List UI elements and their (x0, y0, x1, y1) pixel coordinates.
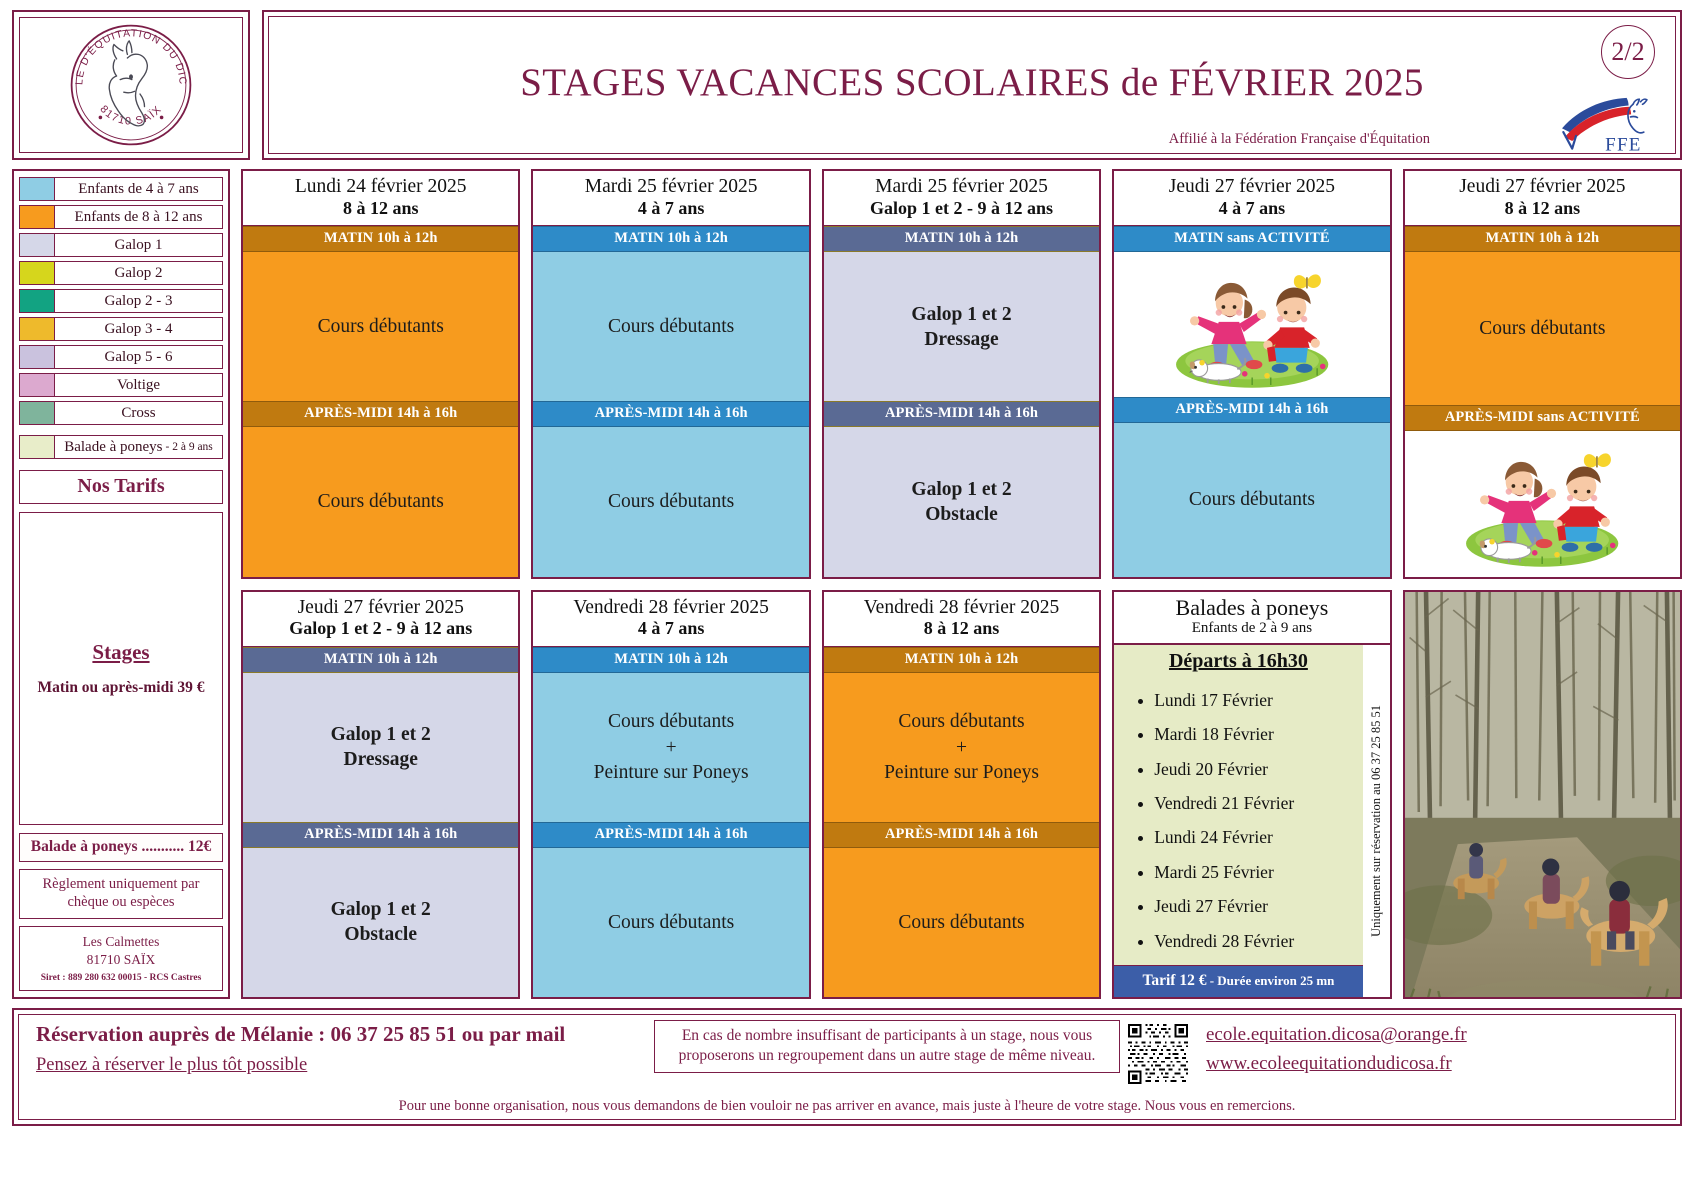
footer-organisation-note: Pour une bonne organisation, nous vous d… (314, 1098, 1380, 1115)
card-age: 4 à 7 ans (1118, 198, 1385, 220)
siret-text: Siret : 889 280 632 00015 - RCS Castres (24, 973, 218, 983)
morning-slot-bar: MATIN 10h à 12h (824, 647, 1099, 673)
balades-tarif-bar: Tarif 12 € - Durée environ 25 mn (1114, 965, 1362, 997)
card-age: Galop 1 et 2 - 9 à 12 ans (247, 618, 514, 640)
card-age: 8 à 12 ans (247, 198, 514, 220)
morning-slot-bar: MATIN sans ACTIVITÉ (1114, 226, 1389, 252)
legend-label: Enfants de 4 à 7 ans (55, 178, 222, 200)
morning-slot-body: Cours débutants (1405, 252, 1680, 405)
legend-label: Balade à poneys - 2 à 9 ans (55, 436, 222, 458)
afternoon-slot-bar: APRÈS-MIDI 14h à 16h (243, 401, 518, 427)
kids-playing-illustration-icon (1114, 252, 1389, 397)
card-date: Mardi 25 février 2025 (537, 176, 804, 198)
legend-label: Galop 3 - 4 (55, 318, 222, 340)
morning-slot-bar: MATIN 10h à 12h (824, 226, 1099, 252)
afternoon-slot-bar: APRÈS-MIDI sans ACTIVITÉ (1405, 405, 1680, 431)
legend-swatch (20, 262, 55, 284)
legend-label-text: Balade à poneys (64, 439, 162, 456)
legend-swatch (20, 234, 55, 256)
email-link[interactable]: ecole.equitation.dicosa@orange.fr (1206, 1024, 1467, 1046)
afternoon-slot-body: Cours débutants (824, 848, 1099, 997)
balades-tarif-amount: Tarif 12 € (1142, 972, 1206, 989)
address-box: Les Calmettes 81710 SAÏX Siret : 889 280… (19, 926, 223, 991)
afternoon-slot-bar: APRÈS-MIDI 14h à 16h (824, 401, 1099, 427)
schedule-row-2: Jeudi 27 février 2025 Galop 1 et 2 - 9 à… (241, 590, 1682, 1000)
schedule-card[interactable]: Vendredi 28 février 2025 8 à 12 ans MATI… (822, 590, 1101, 1000)
legend-label: Galop 2 (55, 262, 222, 284)
balades-poneys-panel[interactable]: Balades à poneys Enfants de 2 à 9 ans Dé… (1112, 590, 1391, 1000)
footer-reservation-line: Réservation auprès de Mélanie : 06 37 25… (36, 1022, 654, 1047)
legend-item-galop-3-4: Galop 3 - 4 (19, 317, 223, 341)
list-item: Lundi 17 Février (1138, 690, 1362, 711)
morning-slot-bar: MATIN 10h à 12h (243, 226, 518, 252)
list-item: Vendredi 28 Février (1138, 931, 1362, 952)
balades-content: Départs à 16h30 Lundi 17 Février Mardi 1… (1114, 645, 1362, 997)
card-age: 8 à 12 ans (1409, 198, 1676, 220)
legend-label-sub: - 2 à 9 ans (166, 441, 213, 453)
legend-label: Enfants de 8 à 12 ans (55, 206, 222, 228)
card-date: Jeudi 27 février 2025 (1118, 176, 1385, 198)
card-header: Mardi 25 février 2025 4 à 7 ans (533, 171, 808, 226)
afternoon-slot-bar: APRÈS-MIDI 14h à 16h (1114, 397, 1389, 423)
legend-item-galop-1: Galop 1 (19, 233, 223, 257)
legend-swatch (20, 346, 55, 368)
tarifs-reglement-note: Règlement uniquement par chèque ou espèc… (19, 869, 223, 918)
legend-item-galop-2: Galop 2 (19, 261, 223, 285)
card-header: Jeudi 27 février 2025 8 à 12 ans (1405, 171, 1680, 226)
legend-list: Enfants de 4 à 7 ans Enfants de 8 à 12 a… (19, 177, 223, 459)
legend-label: Galop 2 - 3 (55, 290, 222, 312)
tarifs-heading: Nos Tarifs (19, 470, 223, 504)
balades-reservation-text: Uniquement sur réservation au 06 37 25 8… (1369, 705, 1384, 937)
footer-links: ecole.equitation.dicosa@orange.fr www.ec… (1206, 1022, 1467, 1075)
schedule-card[interactable]: Jeudi 27 février 2025 4 à 7 ans MATIN sa… (1112, 169, 1391, 579)
legend-item-galop-2-3: Galop 2 - 3 (19, 289, 223, 313)
card-date: Vendredi 28 février 2025 (537, 597, 804, 619)
legend-swatch (20, 178, 55, 200)
balades-title: Balades à poneys (1118, 596, 1385, 620)
tarifs-stages-price: Matin ou après-midi 39 € (37, 679, 204, 697)
card-date: Jeudi 27 février 2025 (1409, 176, 1676, 198)
card-age: 8 à 12 ans (828, 618, 1095, 640)
svg-text:81710 SAÏX: 81710 SAÏX (97, 103, 164, 128)
tarifs-balade-price: Balade à poneys ........... 12€ (19, 833, 223, 862)
schedule-row-1: Lundi 24 février 2025 8 à 12 ans MATIN 1… (241, 169, 1682, 579)
morning-slot-bar: MATIN 10h à 12h (243, 647, 518, 673)
legend-label: Galop 5 - 6 (55, 346, 222, 368)
list-item: Mardi 25 Février (1138, 862, 1362, 883)
list-item: Jeudi 27 Février (1138, 896, 1362, 917)
legend-item-kids-4-7: Enfants de 4 à 7 ans (19, 177, 223, 201)
footer-book-early-note: Pensez à réserver le plus tôt possible (36, 1055, 654, 1076)
poster-page: ÉCOLE D'ÉQUITATION DU DICOSA 81710 SAÏX (0, 0, 1694, 1197)
afternoon-slot-body: Galop 1 et 2 Obstacle (824, 427, 1099, 576)
sidebar-frame: Enfants de 4 à 7 ans Enfants de 8 à 12 a… (12, 169, 230, 999)
legend-item-cross: Cross (19, 401, 223, 425)
card-header: Jeudi 27 février 2025 Galop 1 et 2 - 9 à… (243, 592, 518, 647)
card-age: 4 à 7 ans (537, 198, 804, 220)
sidebar: Enfants de 4 à 7 ans Enfants de 8 à 12 a… (12, 169, 230, 999)
tarifs-stages-label: Stages (92, 640, 149, 665)
card-date: Vendredi 28 février 2025 (828, 597, 1095, 619)
afternoon-slot-body: Cours débutants (533, 848, 808, 997)
list-item: Vendredi 21 Février (1138, 793, 1362, 814)
legend-label: Galop 1 (55, 234, 222, 256)
card-header: Jeudi 27 février 2025 4 à 7 ans (1114, 171, 1389, 226)
afternoon-slot-body: Cours débutants (1114, 423, 1389, 576)
website-link[interactable]: www.ecoleequitationdudicosa.fr (1206, 1053, 1467, 1075)
poster-footer: Réservation auprès de Mélanie : 06 37 25… (12, 1008, 1682, 1126)
ffe-logo: FFE (1557, 90, 1652, 154)
footer-regroup-notice: En cas de nombre insuffisant de particip… (654, 1020, 1120, 1073)
schedule-card[interactable]: Mardi 25 février 2025 4 à 7 ans MATIN 10… (531, 169, 810, 579)
balades-header: Balades à poneys Enfants de 2 à 9 ans (1114, 592, 1389, 645)
pony-trail-ride-photo (1403, 590, 1682, 1000)
legend-swatch (20, 374, 55, 396)
morning-slot-body: Cours débutants + Peinture sur Poneys (533, 673, 808, 822)
list-item: Mardi 18 Février (1138, 724, 1362, 745)
schedule-cards-area: Lundi 24 février 2025 8 à 12 ans MATIN 1… (241, 169, 1682, 999)
card-date: Mardi 25 février 2025 (828, 176, 1095, 198)
card-header: Vendredi 28 février 2025 4 à 7 ans (533, 592, 808, 647)
legend-swatch (20, 436, 55, 458)
morning-slot-body: Cours débutants (243, 252, 518, 401)
afternoon-slot-bar: APRÈS-MIDI 14h à 16h (533, 822, 808, 848)
afternoon-slot-body: Galop 1 et 2 Obstacle (243, 848, 518, 997)
school-logo-box: ÉCOLE D'ÉQUITATION DU DICOSA 81710 SAÏX (12, 10, 250, 160)
balades-date-list: Lundi 17 Février Mardi 18 Février Jeudi … (1114, 677, 1362, 965)
card-header: Vendredi 28 février 2025 8 à 12 ans (824, 592, 1099, 647)
schedule-card[interactable]: Mardi 25 février 2025 Galop 1 et 2 - 9 à… (822, 169, 1101, 579)
afternoon-slot-body: Cours débutants (243, 427, 518, 576)
morning-slot-bar: MATIN 10h à 12h (1405, 226, 1680, 252)
card-date: Jeudi 27 février 2025 (247, 597, 514, 619)
schedule-card[interactable]: Jeudi 27 février 2025 Galop 1 et 2 - 9 à… (241, 590, 520, 1000)
poster-body: Enfants de 4 à 7 ans Enfants de 8 à 12 a… (12, 169, 1682, 999)
afternoon-slot-body (1405, 431, 1680, 576)
balades-departures-heading: Départs à 16h30 (1114, 650, 1362, 673)
morning-slot-body: Galop 1 et 2 Dressage (824, 252, 1099, 401)
list-item: Jeudi 20 Février (1138, 759, 1362, 780)
afternoon-slot-bar: APRÈS-MIDI 14h à 16h (243, 822, 518, 848)
schedule-card[interactable]: Vendredi 28 février 2025 4 à 7 ans MATIN… (531, 590, 810, 1000)
morning-slot-body: Cours débutants (533, 252, 808, 401)
legend-label: Cross (55, 402, 222, 424)
list-item: Lundi 24 Février (1138, 827, 1362, 848)
school-logo-circle: ÉCOLE D'ÉQUITATION DU DICOSA 81710 SAÏX (68, 22, 194, 148)
balades-reservation-note: Uniquement sur réservation au 06 37 25 8… (1363, 645, 1390, 997)
legend-label: Voltige (55, 374, 222, 396)
card-age: 4 à 7 ans (537, 618, 804, 640)
legend-swatch (20, 318, 55, 340)
morning-slot-body: Cours débutants + Peinture sur Poneys (824, 673, 1099, 822)
tarifs-body: Stages Matin ou après-midi 39 € (19, 512, 223, 825)
kids-playing-illustration-icon (1405, 431, 1680, 576)
card-age: Galop 1 et 2 - 9 à 12 ans (828, 198, 1095, 220)
schedule-card[interactable]: Jeudi 27 février 2025 8 à 12 ans MATIN 1… (1403, 169, 1682, 579)
afternoon-slot-body: Cours débutants (533, 427, 808, 576)
afternoon-slot-bar: APRÈS-MIDI 14h à 16h (824, 822, 1099, 848)
afternoon-slot-bar: APRÈS-MIDI 14h à 16h (533, 401, 808, 427)
legend-item-kids-8-12: Enfants de 8 à 12 ans (19, 205, 223, 229)
horse-head-icon: ÉCOLE D'ÉQUITATION DU DICOSA 81710 SAÏX (68, 22, 194, 148)
legend-swatch (20, 290, 55, 312)
page-title: STAGES VACANCES SCOLAIRES de FÉVRIER 202… (520, 60, 1424, 105)
legend-item-balade-poneys: Balade à poneys - 2 à 9 ans (19, 435, 223, 459)
poster-header: ÉCOLE D'ÉQUITATION DU DICOSA 81710 SAÏX (12, 10, 1682, 160)
balades-subtitle: Enfants de 2 à 9 ans (1118, 620, 1385, 637)
legend-item-galop-5-6: Galop 5 - 6 (19, 345, 223, 369)
card-header: Lundi 24 février 2025 8 à 12 ans (243, 171, 518, 226)
morning-slot-bar: MATIN 10h à 12h (533, 647, 808, 673)
schedule-card[interactable]: Lundi 24 février 2025 8 à 12 ans MATIN 1… (241, 169, 520, 579)
legend-swatch (20, 206, 55, 228)
balades-tarif-duration: - Durée environ 25 mn (1206, 973, 1334, 988)
legend-swatch (20, 402, 55, 424)
address-line-2: 81710 SAÏX (24, 951, 218, 969)
legend-item-voltige: Voltige (19, 373, 223, 397)
title-box: STAGES VACANCES SCOLAIRES de FÉVRIER 202… (262, 10, 1682, 160)
ffe-label: FFE (1605, 135, 1642, 155)
balades-main: Départs à 16h30 Lundi 17 Février Mardi 1… (1114, 645, 1389, 997)
card-header: Mardi 25 février 2025 Galop 1 et 2 - 9 à… (824, 171, 1099, 226)
page-number-badge: 2/2 (1601, 25, 1655, 79)
affiliation-text: Affilié à la Fédération Française d'Équi… (1169, 131, 1430, 148)
qr-code-icon[interactable] (1126, 1022, 1190, 1086)
morning-slot-bar: MATIN 10h à 12h (533, 226, 808, 252)
morning-slot-body: Galop 1 et 2 Dressage (243, 673, 518, 822)
card-date: Lundi 24 février 2025 (247, 176, 514, 198)
morning-slot-body (1114, 252, 1389, 397)
address-line-1: Les Calmettes (24, 933, 218, 951)
